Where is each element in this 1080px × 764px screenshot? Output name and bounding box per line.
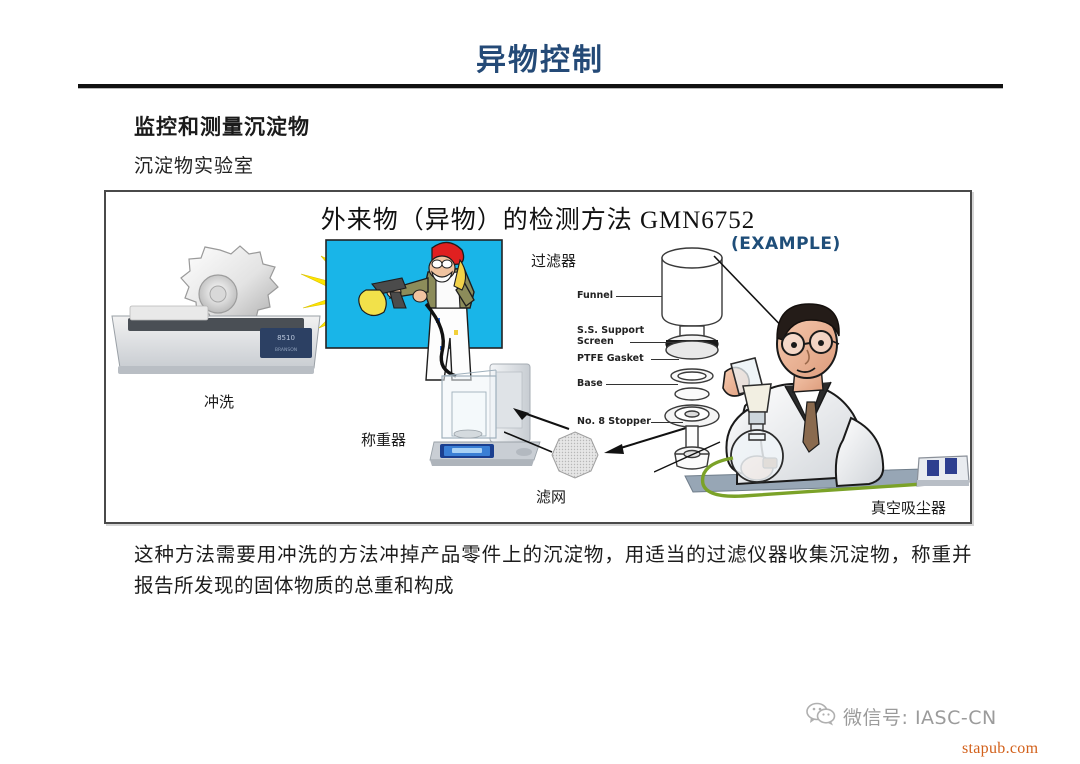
body-paragraph: 这种方法需要用冲洗的方法冲掉产品零件上的沉淀物，用适当的过滤仪器收集沉淀物，称重… [134,540,972,602]
label-base: Base [577,378,603,389]
label-guolvqi: 过滤器 [531,250,576,271]
section-subheading: 沉淀物实验室 [134,151,254,178]
vacuum-pointer-line [654,438,724,478]
leader-stopper [651,422,683,423]
illustration-panel: 外来物（异物）的检测方法 GMN6752 (EXAMPLE) [104,190,972,524]
label-no8-stopper: No. 8 Stopper [577,416,651,427]
label-chongxi: 冲洗 [204,391,234,412]
page-title: 异物控制 [0,44,1080,77]
site-watermark: stapub.com [962,740,1038,758]
leader-gasket [651,359,679,360]
wechat-watermark: 微信号: IASC-CN [806,702,997,731]
device-model-label: 8510 [277,334,295,342]
leader-base [606,384,678,385]
device-brand-label: BRANSON [275,347,297,353]
label-chengzhongqi: 称重器 [361,429,406,450]
label-ptfe-gasket: PTFE Gasket [577,353,644,364]
leader-funnel [616,296,662,297]
scientist-filtration-illustration [681,300,971,512]
wechat-id-text: 微信号: IASC-CN [843,703,997,730]
label-lvwang: 滤网 [536,486,566,507]
label-screen: Screen [577,336,614,347]
label-ss-support: S.S. Support [577,325,644,336]
label-vacuum-cleaner: 真空吸尘器 [871,497,946,518]
label-funnel: Funnel [577,290,613,301]
wechat-icon [806,702,836,731]
filter-mesh-illustration [549,430,601,480]
title-divider [78,84,1003,89]
panel-title: 外来物（异物）的检测方法 GMN6752 [106,200,970,236]
leader-screen [630,342,678,343]
mesh-left-arrow-icon [504,430,554,456]
section-heading: 监控和测量沉淀物 [134,111,310,141]
